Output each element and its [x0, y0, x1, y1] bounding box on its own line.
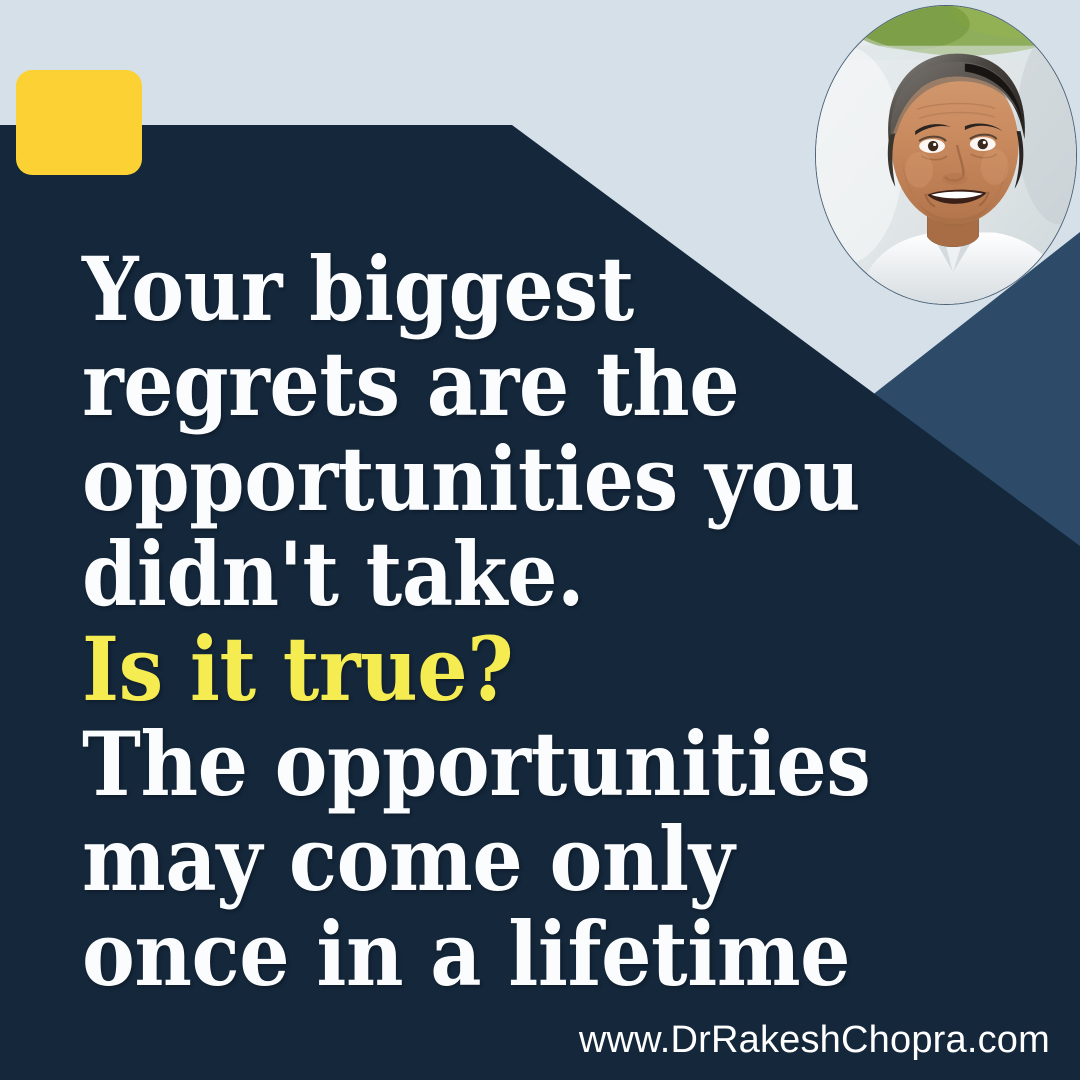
website-url[interactable]: www.DrRakeshChopra.com [579, 1019, 1050, 1062]
yellow-accent-square [16, 70, 142, 175]
quote-text-block: Your biggest regrets are the opportuniti… [82, 242, 962, 1002]
quote-card: Your biggest regrets are the opportuniti… [0, 0, 1080, 1080]
quote-line: regrets are the [82, 337, 874, 432]
quote-line: The opportunities [82, 717, 874, 812]
quote-line: may come only [82, 812, 874, 907]
quote-line: Your biggest [82, 242, 874, 337]
quote-line: once in a lifetime [82, 907, 874, 1002]
quote-line: didn't take. [82, 527, 874, 622]
quote-line-highlight: Is it true? [82, 622, 874, 717]
quote-line: opportunities you [82, 432, 874, 527]
